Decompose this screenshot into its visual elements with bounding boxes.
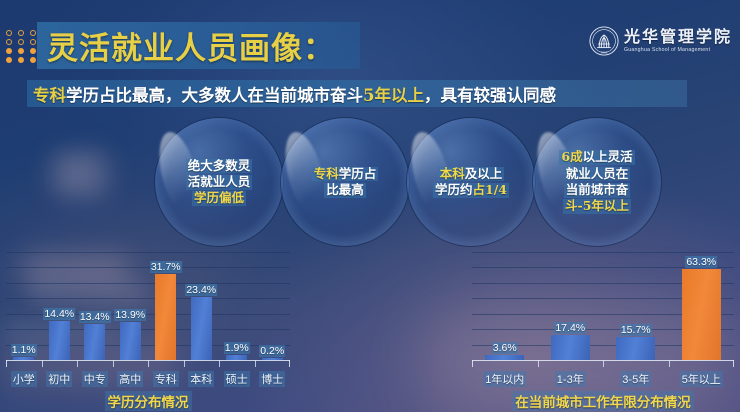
insight-circle-line: 本科及以上 [438, 167, 505, 182]
axis-tick [184, 360, 185, 367]
decorative-dot [6, 57, 12, 63]
bar-slot: 31.7% [148, 252, 184, 360]
x-axis-tick-label-text: 高中 [117, 371, 143, 387]
x-axis-tick-label: 1-3年 [538, 370, 604, 388]
bar-slot: 13.9% [113, 252, 149, 360]
bar-value-label: 3.6% [492, 342, 518, 354]
plot-area: 3.6%17.4%15.7%63.3% [472, 252, 734, 360]
decorative-dot [18, 57, 24, 63]
brand-logo: 1898 光华管理学院 Guanghua School of Managemen… [589, 26, 732, 56]
x-axis-tick-label-text: 3-5年 [620, 371, 651, 387]
decorative-dot [30, 39, 36, 45]
chart-years-in-current-city: 3.6%17.4%15.7%63.3% 1年以内1-3年3-5年5年以上 在当前… [472, 252, 734, 412]
chart-title-text: 学历分布情况 [105, 391, 192, 411]
insight-text: 就业人员在 [566, 166, 629, 181]
decorative-dot [18, 39, 24, 45]
x-axis-tick-label: 中专 [77, 370, 113, 388]
bar[interactable]: 31.7% [155, 274, 176, 360]
insight-circle-row: 绝大多数灵活就业人员学历偏低专科学历占比最高本科及以上学历约占1/46成以上灵活… [0, 118, 740, 246]
x-axis-tick-label: 小学 [6, 370, 42, 388]
logo-name-en: Guanghua School of Management [624, 47, 710, 53]
insight-circle-line: 斗-5年以上 [563, 199, 631, 214]
insight-circle-line: 活就业人员 [186, 175, 253, 190]
insight-circle: 专科学历占比最高 [281, 118, 409, 246]
decorative-dot [30, 57, 36, 63]
axis-tick [669, 360, 670, 367]
bar[interactable]: 23.4% [191, 297, 212, 360]
bar-slot: 14.4% [42, 252, 78, 360]
x-axis-tick-label-text: 博士 [259, 371, 285, 387]
insight-circle: 6成以上灵活就业人员在当前城市奋斗-5年以上 [533, 118, 661, 246]
subtitle-highlight: 专科 [33, 86, 66, 105]
insight-text: 学历占 [339, 166, 377, 181]
insight-circle-line: 当前城市奋 [564, 183, 631, 198]
insight-circle-line: 比最高 [324, 183, 366, 198]
decorative-dot [18, 48, 24, 54]
insight-highlight: 学历偏低 [194, 190, 244, 205]
subtitle-text: 专科学历占比最高，大多数人在当前城市奋斗5年以上，具有较强认同感 [33, 82, 556, 106]
plot-area: 1.1%14.4%13.4%13.9%31.7%23.4%1.9%0.2% [6, 252, 290, 360]
x-axis-tick-label: 5年以上 [669, 370, 735, 388]
insight-highlight: 斗-5年以上 [565, 198, 629, 213]
bar-slot: 0.2% [255, 252, 291, 360]
axis-end-cap [289, 360, 290, 367]
axis-tick [113, 360, 114, 367]
x-axis-tick-label-text: 硕士 [224, 371, 250, 387]
title-band: 灵活就业人员画像： [37, 22, 360, 69]
logo-wordmark: 光华管理学院 Guanghua School of Management [624, 29, 732, 54]
bar-slot: 23.4% [184, 252, 220, 360]
x-axis-tick-label: 3-5年 [603, 370, 669, 388]
axis-tick [538, 360, 539, 367]
bar-series: 3.6%17.4%15.7%63.3% [472, 252, 734, 360]
axis-tick [148, 360, 149, 367]
x-axis-category-labels: 小学初中中专高中专科本科硕士博士 [6, 370, 290, 388]
axis-end-cap [733, 360, 734, 367]
decorative-dot [30, 48, 36, 54]
x-axis-tick-label: 初中 [42, 370, 78, 388]
bar-slot: 13.4% [77, 252, 113, 360]
bar[interactable]: 13.9% [120, 322, 141, 360]
bar-value-label: 23.4% [185, 284, 217, 296]
bar[interactable]: 15.7% [616, 337, 655, 360]
insight-text: 以上灵活 [583, 149, 633, 164]
insight-circle-line: 专科学历占 [312, 167, 379, 182]
bar-slot: 1.9% [219, 252, 255, 360]
x-axis-tick-label-text: 小学 [11, 371, 37, 387]
insight-highlight: 本科 [440, 166, 465, 181]
x-axis-tick-label: 硕士 [219, 370, 255, 388]
svg-text:1898: 1898 [601, 51, 608, 55]
insight-text: 当前城市奋 [566, 182, 629, 197]
decorative-dot [18, 30, 24, 36]
axis-tick [255, 360, 256, 367]
insight-circle-text: 本科及以上学历约占1/4 [433, 166, 509, 199]
axis-end-cap [472, 360, 473, 367]
slide-canvas: 灵活就业人员画像： 专科学历占比最高，大多数人在当前城市奋斗5年以上，具有较强认… [0, 0, 740, 412]
x-axis [6, 360, 290, 368]
decorative-dot [6, 48, 12, 54]
chart-education-distribution: 1.1%14.4%13.4%13.9%31.7%23.4%1.9%0.2% 小学… [6, 252, 290, 412]
x-axis-tick-label-text: 本科 [188, 371, 214, 387]
insight-highlight: 专科 [314, 166, 339, 181]
axis-tick [77, 360, 78, 367]
subtitle-highlight: 5年以上 [363, 86, 424, 105]
logo-name-cn: 光华管理学院 [624, 29, 732, 46]
axis-tick [42, 360, 43, 367]
x-axis-tick-label-text: 1-3年 [555, 371, 586, 387]
chart-title: 学历分布情况 [6, 391, 290, 412]
x-axis [472, 360, 734, 368]
insight-text: 及以上 [465, 166, 503, 181]
x-axis-tick-label: 本科 [184, 370, 220, 388]
insight-circle-line: 学历约占1/4 [433, 183, 509, 198]
bar-value-label: 0.2% [259, 345, 285, 357]
subtitle-segment: 学历占比最高，大多数人在当前城市奋斗 [66, 86, 363, 105]
x-axis-tick-label-text: 1年以内 [483, 371, 526, 387]
axis-end-cap [6, 360, 7, 367]
subtitle-band: 专科学历占比最高，大多数人在当前城市奋斗5年以上，具有较强认同感 [27, 80, 687, 107]
bar-value-label: 13.4% [79, 311, 111, 323]
bar[interactable]: 13.4% [84, 324, 105, 360]
x-axis-tick-label-text: 中专 [82, 371, 108, 387]
chart-title: 在当前城市工作年限分布情况 [472, 391, 734, 412]
bar-series: 1.1%14.4%13.4%13.9%31.7%23.4%1.9%0.2% [6, 252, 290, 360]
x-axis-tick-label: 博士 [255, 370, 291, 388]
decorative-dot [6, 39, 12, 45]
decorative-dot [30, 30, 36, 36]
insight-circle-text: 6成以上灵活就业人员在当前城市奋斗-5年以上 [559, 149, 634, 214]
x-axis-tick-label: 1年以内 [472, 370, 538, 388]
axis-tick [603, 360, 604, 367]
insight-circle: 本科及以上学历约占1/4 [407, 118, 535, 246]
insight-circle-line: 6成以上灵活 [559, 150, 634, 165]
bar-value-label: 63.3% [685, 256, 717, 268]
bar-value-label: 14.4% [43, 308, 75, 320]
insight-circle-line: 学历偏低 [192, 191, 246, 206]
insight-text: 学历约 [435, 182, 473, 197]
bar[interactable]: 17.4% [551, 335, 590, 360]
bar-value-label: 1.1% [11, 344, 37, 356]
insight-text: 绝大多数灵 [188, 158, 251, 173]
insight-circle: 绝大多数灵活就业人员学历偏低 [155, 118, 283, 246]
decorative-dot-grid [6, 30, 39, 63]
insight-text: 比最高 [326, 182, 364, 197]
insight-text: 活就业人员 [188, 174, 251, 189]
x-axis-category-labels: 1年以内1-3年3-5年5年以上 [472, 370, 734, 388]
x-axis-tick-label: 专科 [148, 370, 184, 388]
bar-slot: 17.4% [538, 252, 604, 360]
bar-slot: 63.3% [669, 252, 735, 360]
insight-circle-text: 绝大多数灵活就业人员学历偏低 [186, 158, 253, 207]
subtitle-segment: ，具有较强认同感 [424, 86, 556, 105]
bar-slot: 3.6% [472, 252, 538, 360]
axis-tick [219, 360, 220, 367]
page-title: 灵活就业人员画像： [47, 23, 335, 68]
chart-title-text: 在当前城市工作年限分布情况 [512, 391, 694, 411]
x-axis-tick-label-text: 初中 [46, 371, 72, 387]
x-axis-tick-label-text: 专科 [153, 371, 179, 387]
peking-university-seal-icon: 1898 [589, 26, 619, 56]
bar[interactable]: 63.3% [682, 269, 721, 360]
bar-value-label: 13.9% [114, 309, 146, 321]
x-axis-tick-label: 高中 [113, 370, 149, 388]
insight-highlight: 占1/4 [473, 182, 507, 197]
insight-circle-line: 就业人员在 [564, 167, 631, 182]
insight-circle-text: 专科学历占比最高 [312, 166, 379, 199]
bar-value-label: 17.4% [554, 322, 586, 334]
bar-slot: 15.7% [603, 252, 669, 360]
insight-circle-line: 绝大多数灵 [186, 159, 253, 174]
decorative-dot [6, 30, 12, 36]
x-axis-tick-label-text: 5年以上 [680, 371, 723, 387]
insight-highlight: 6成 [561, 149, 582, 164]
bar-value-label: 31.7% [150, 261, 182, 273]
bar-value-label: 1.9% [224, 342, 250, 354]
bar[interactable]: 14.4% [49, 321, 70, 360]
bar-value-label: 15.7% [620, 324, 652, 336]
bar-slot: 1.1% [6, 252, 42, 360]
